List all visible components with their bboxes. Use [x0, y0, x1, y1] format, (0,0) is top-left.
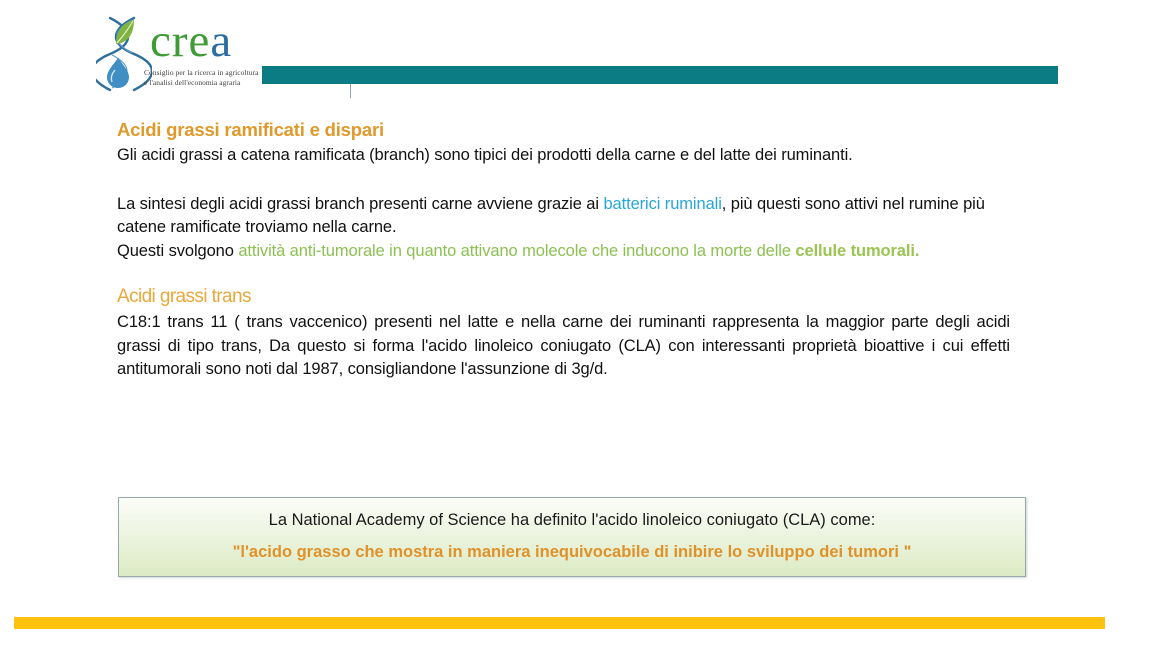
crea-wordmark-blue: a [210, 15, 232, 67]
crea-wordmark-green: cre [150, 15, 210, 67]
section2-text-part3: Questi svolgono [117, 242, 238, 260]
section-heading-trans-fatty-acids: Acidi grassi trans [117, 285, 1010, 309]
crea-wordmark: crea [150, 16, 232, 66]
spacer-2 [117, 263, 1010, 285]
header-teal-bar [262, 66, 1058, 84]
section2-text-part1: La sintesi degli acidi grassi branch pre… [117, 195, 603, 213]
page-header: crea Consiglio per la ricerca in agricol… [0, 0, 1170, 100]
crea-logo: crea Consiglio per la ricerca in agricol… [96, 14, 266, 94]
definition-callout-box: La National Academy of Science ha defini… [118, 497, 1026, 577]
section-heading-branched-fatty-acids: Acidi grassi ramificati e dispari [117, 118, 1010, 142]
section2-highlight-blue: batterici ruminali [603, 195, 721, 213]
section2-paragraph-2: Questi svolgono attività anti-tumorale i… [117, 240, 1010, 264]
callout-line-1: La National Academy of Science ha defini… [119, 509, 1025, 531]
section1-paragraph: Gli acidi grassi a catena ramificata (br… [117, 144, 1010, 168]
slide-content: Acidi grassi ramificati e dispari Gli ac… [117, 118, 1010, 382]
section3-paragraph: C18:1 trans 11 ( trans vaccenico) presen… [117, 311, 1010, 382]
footer-yellow-bar [14, 617, 1105, 629]
section2-paragraph-1: La sintesi degli acidi grassi branch pre… [117, 193, 1010, 240]
spacer-1 [117, 168, 1010, 193]
section2-highlight-green: attività anti-tumorale in quanto attivan… [238, 242, 795, 260]
callout-line-2: "l'acido grasso che mostra in maniera in… [119, 541, 1025, 563]
section2-highlight-green-bold: cellule tumorali. [795, 242, 919, 260]
